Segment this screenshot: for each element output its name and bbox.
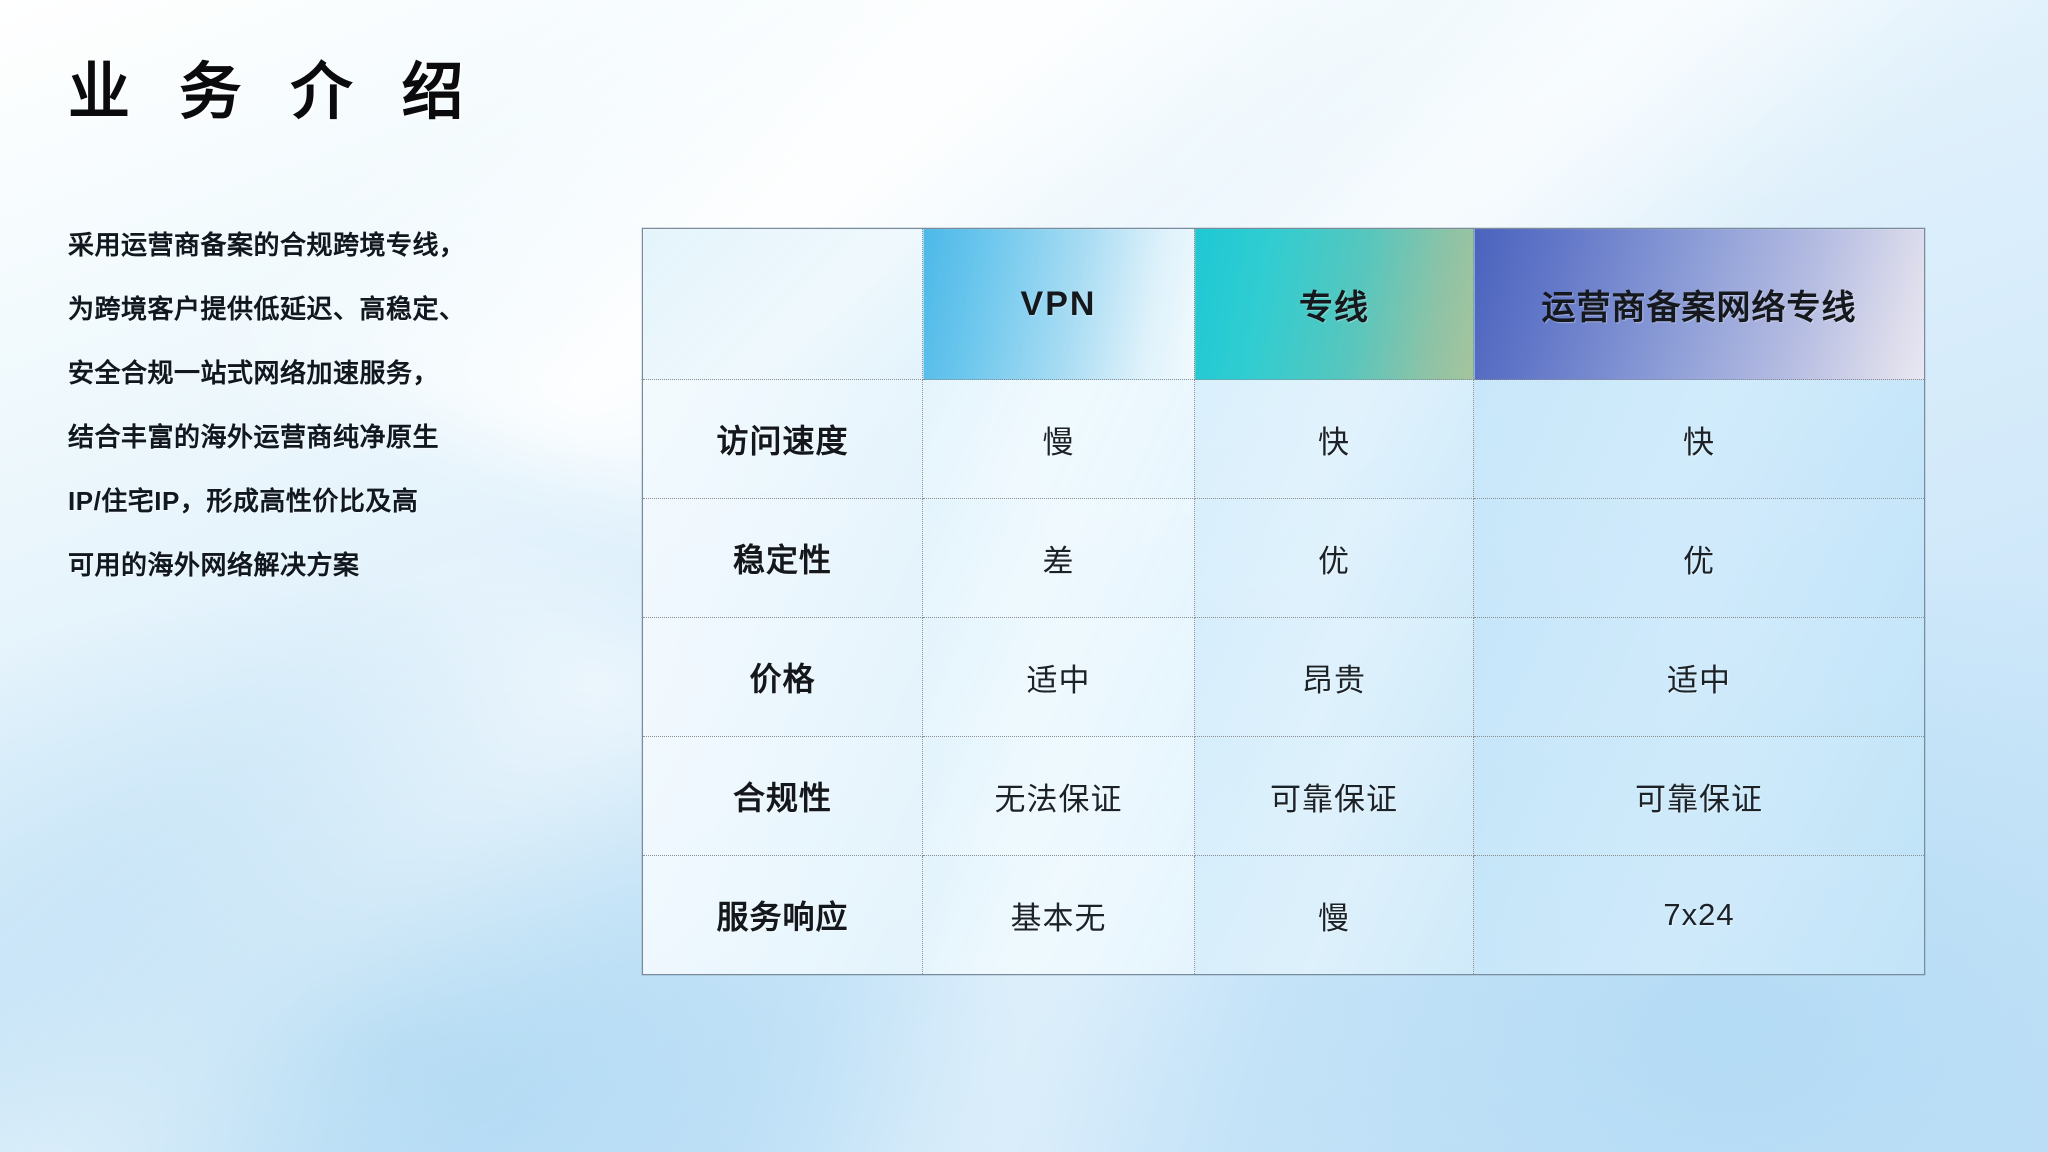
- comparison-table: VPN 专线 运营商备案网络专线 访问速度 慢 快: [642, 228, 1925, 975]
- cell-value: 适中: [1667, 663, 1731, 698]
- table-cell-dedicated-line: 快: [1195, 380, 1474, 499]
- table-cell-vpn: 无法保证: [923, 737, 1195, 856]
- cell-value: 差: [1043, 544, 1075, 579]
- table-row: 稳定性 差 优 优: [643, 499, 1925, 618]
- cell-value: 昂贵: [1302, 663, 1366, 698]
- table-cell-vpn: 慢: [923, 380, 1195, 499]
- table-cell-dedicated-line: 可靠保证: [1195, 737, 1474, 856]
- table-header-row: VPN 专线 运营商备案网络专线: [643, 229, 1925, 380]
- row-label: 稳定性: [733, 542, 832, 578]
- intro-line: 安全合规一站式网络加速服务，: [68, 360, 628, 386]
- table-header-cell-filed-network-line: 运营商备案网络专线: [1474, 229, 1925, 380]
- slide-canvas: 业 务 介 绍 采用运营商备案的合规跨境专线， 为跨境客户提供低延迟、高稳定、 …: [0, 0, 2048, 1152]
- cell-value: 慢: [1318, 901, 1350, 936]
- row-label: 价格: [749, 661, 815, 697]
- table-cell-dedicated-line: 昂贵: [1195, 618, 1474, 737]
- table-cell-vpn: 基本无: [923, 856, 1195, 975]
- table-cell-vpn: 差: [923, 499, 1195, 618]
- table-cell-filed-network-line: 适中: [1474, 618, 1925, 737]
- intro-line: 采用运营商备案的合规跨境专线，: [68, 232, 628, 258]
- intro-line: 可用的海外网络解决方案: [68, 552, 628, 578]
- table-row: 合规性 无法保证 可靠保证 可靠保证: [643, 737, 1925, 856]
- table-header-label: 运营商备案网络专线: [1542, 289, 1857, 327]
- table-cell-filed-network-line: 7x24: [1474, 856, 1925, 975]
- table-row: 访问速度 慢 快 快: [643, 380, 1925, 499]
- cell-value: 基本无: [1011, 901, 1107, 936]
- cell-value: 优: [1318, 544, 1350, 579]
- cell-value: 7x24: [1663, 897, 1734, 932]
- cell-value: 快: [1318, 425, 1350, 460]
- page-title: 业 务 介 绍: [68, 62, 480, 124]
- cell-value: 优: [1683, 544, 1715, 579]
- table-cell-dedicated-line: 优: [1195, 499, 1474, 618]
- table-row-label-cell: 访问速度: [643, 380, 923, 499]
- table-cell-filed-network-line: 优: [1474, 499, 1925, 618]
- cell-value: 适中: [1027, 663, 1091, 698]
- row-label: 服务响应: [716, 899, 848, 935]
- cell-value: 无法保证: [995, 782, 1123, 817]
- cell-value: 慢: [1043, 425, 1075, 460]
- table-row-label-cell: 稳定性: [643, 499, 923, 618]
- intro-paragraph: 采用运营商备案的合规跨境专线， 为跨境客户提供低延迟、高稳定、 安全合规一站式网…: [68, 232, 628, 578]
- table-cell-dedicated-line: 慢: [1195, 856, 1474, 975]
- table-row: 服务响应 基本无 慢 7x24: [643, 856, 1925, 975]
- table-header-cell-dedicated-line: 专线: [1195, 229, 1474, 380]
- cell-value: 快: [1683, 425, 1715, 460]
- table-cell-filed-network-line: 可靠保证: [1474, 737, 1925, 856]
- cell-value: 可靠保证: [1270, 782, 1398, 817]
- table-header-cell-blank: [643, 229, 923, 380]
- intro-line: IP/住宅IP，形成高性价比及高: [68, 488, 628, 514]
- cell-value: 可靠保证: [1635, 782, 1763, 817]
- table-row-label-cell: 价格: [643, 618, 923, 737]
- table-cell-vpn: 适中: [923, 618, 1195, 737]
- table-row: 价格 适中 昂贵 适中: [643, 618, 1925, 737]
- intro-line: 结合丰富的海外运营商纯净原生: [68, 424, 628, 450]
- table-header-label: VPN: [1021, 285, 1097, 323]
- intro-line: 为跨境客户提供低延迟、高稳定、: [68, 296, 628, 322]
- table-cell-filed-network-line: 快: [1474, 380, 1925, 499]
- row-label: 合规性: [733, 780, 832, 816]
- row-label: 访问速度: [716, 423, 848, 459]
- table-row-label-cell: 服务响应: [643, 856, 923, 975]
- table-header-label: 专线: [1299, 289, 1369, 327]
- table-row-label-cell: 合规性: [643, 737, 923, 856]
- table-header-cell-vpn: VPN: [923, 229, 1195, 380]
